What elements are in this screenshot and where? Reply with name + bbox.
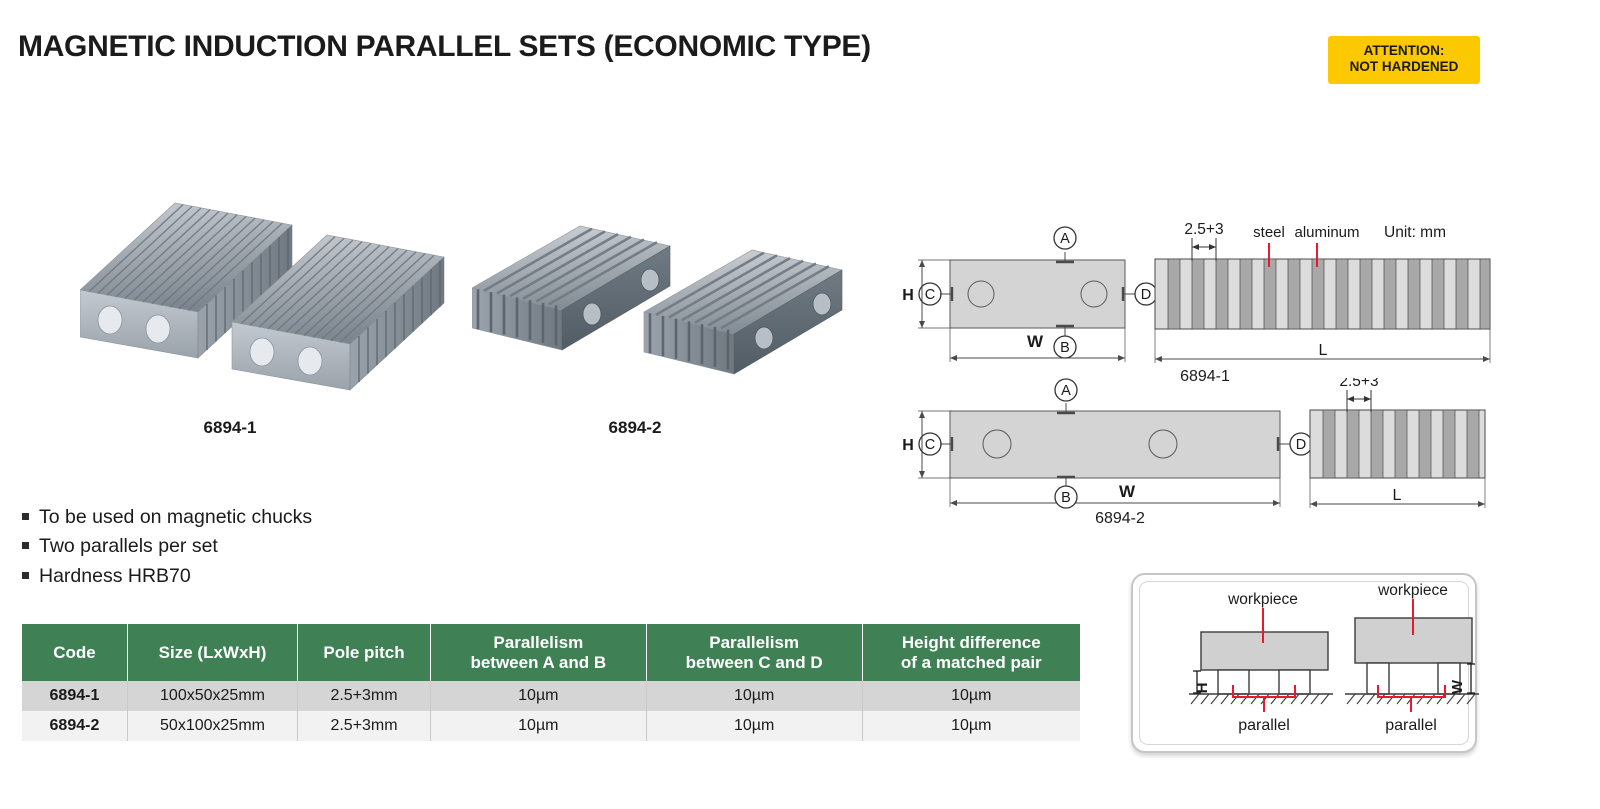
cell-parallelism-cd: 10µm	[646, 681, 862, 711]
mounting-hole	[298, 347, 322, 375]
workpiece-label: workpiece	[1227, 591, 1298, 608]
column-header-line-1: Height difference	[902, 633, 1041, 652]
list-item: To be used on magnetic chucks	[22, 504, 312, 530]
feature-list: To be used on magnetic chucks Two parall…	[22, 504, 312, 592]
label-b: B	[1060, 340, 1070, 356]
usage-left-scenario: workpiece parallel	[1189, 591, 1333, 734]
drawing-caption-6894-2: 6894-2	[1095, 510, 1145, 527]
label-l: L	[1319, 342, 1328, 359]
column-header-code: Code	[22, 624, 127, 681]
mounting-hole	[641, 269, 659, 291]
column-header-height-difference: Height difference of a matched pair	[862, 624, 1080, 681]
attention-badge: ATTENTION: NOT HARDENED	[1328, 36, 1480, 84]
cell-height-difference: 10µm	[862, 711, 1080, 741]
plan-view-6894-2	[918, 403, 1291, 507]
table-row: 6894-2 50x100x25mm 2.5+3mm 10µm 10µm 10µ…	[22, 711, 1080, 741]
mounting-hole	[983, 430, 1011, 458]
label-c: C	[925, 287, 935, 303]
list-item-label: Two parallels per set	[39, 533, 218, 559]
bullet-square-icon	[22, 572, 29, 579]
bullet-square-icon	[22, 542, 29, 549]
unit-label: Unit: mm	[1384, 224, 1446, 241]
mounting-hole	[813, 293, 831, 315]
steel-label: steel	[1253, 224, 1285, 241]
column-header-pole-pitch: Pole pitch	[298, 624, 431, 681]
column-header-parallelism-cd: Parallelism between C and D	[646, 624, 862, 681]
parallel-block	[472, 226, 670, 350]
label-b: B	[1061, 490, 1071, 506]
table-row: 6894-1 100x50x25mm 2.5+3mm 10µm 10µm 10µ…	[22, 681, 1080, 711]
side-view-6894-1: 2.5+3 steel aluminum L	[1155, 221, 1490, 363]
dim-label-w: W	[1449, 679, 1466, 694]
column-header-line-2: of a matched pair	[901, 653, 1042, 672]
usage-right-scenario: workpiece parallel	[1345, 582, 1479, 734]
mounting-hole	[250, 338, 274, 366]
column-header-line-2: between C and D	[686, 653, 823, 672]
cell-height-difference: 10µm	[862, 681, 1080, 711]
mounting-hole	[146, 315, 170, 343]
cell-size: 100x50x25mm	[127, 681, 297, 711]
attention-line-1: ATTENTION:	[1332, 43, 1476, 59]
label-h: H	[902, 287, 914, 304]
mounting-hole	[98, 306, 122, 334]
parallel-label: parallel	[1385, 717, 1437, 734]
workpiece-label: workpiece	[1377, 582, 1448, 599]
dim-label-h: H	[1194, 683, 1211, 694]
technical-drawing-6894-2: A B C D H W 6894-2	[880, 378, 1500, 528]
mounting-hole	[1081, 281, 1107, 307]
list-item-label: To be used on magnetic chucks	[39, 504, 312, 530]
parallel-block	[644, 250, 842, 374]
technical-drawing-6894-1: A B C D H W	[880, 215, 1500, 385]
label-d: D	[1296, 437, 1306, 453]
aluminum-label: aluminum	[1294, 224, 1359, 241]
mounting-hole	[583, 303, 601, 325]
usage-illustration-box: workpiece parallel	[1131, 573, 1477, 753]
column-header-line-2: between A and B	[470, 653, 606, 672]
column-header-line-1: Parallelism	[709, 633, 799, 652]
label-h: H	[902, 437, 914, 454]
product-caption-6894-2: 6894-2	[560, 418, 710, 438]
page-root: MAGNETIC INDUCTION PARALLEL SETS (ECONOM…	[0, 0, 1600, 809]
cell-parallelism-ab: 10µm	[430, 711, 646, 741]
pitch-label: 2.5+3	[1184, 221, 1223, 238]
product-caption-6894-1: 6894-1	[155, 418, 305, 438]
cell-pole-pitch: 2.5+3mm	[298, 681, 431, 711]
cell-size: 50x100x25mm	[127, 711, 297, 741]
attention-line-2: NOT HARDENED	[1332, 59, 1476, 75]
label-l: L	[1393, 487, 1402, 504]
bullet-square-icon	[22, 513, 29, 520]
cell-parallelism-ab: 10µm	[430, 681, 646, 711]
list-item: Two parallels per set	[22, 533, 312, 559]
label-a: A	[1060, 231, 1070, 247]
cell-code: 6894-2	[22, 711, 127, 741]
column-header-size: Size (LxWxH)	[127, 624, 297, 681]
page-title: MAGNETIC INDUCTION PARALLEL SETS (ECONOM…	[18, 30, 871, 64]
specification-table: Code Size (LxWxH) Pole pitch Parallelism…	[22, 624, 1080, 741]
label-d: D	[1141, 287, 1151, 303]
column-header-line-1: Parallelism	[493, 633, 583, 652]
label-w: W	[1027, 332, 1044, 351]
mounting-hole	[755, 327, 773, 349]
product-photo-6894-2	[472, 218, 872, 408]
label-a: A	[1061, 383, 1071, 399]
mounting-hole	[968, 281, 994, 307]
list-item: Hardness HRB70	[22, 563, 312, 589]
product-photo-6894-1	[80, 180, 480, 400]
parallel-label: parallel	[1238, 717, 1290, 734]
label-c: C	[925, 437, 935, 453]
cell-code: 6894-1	[22, 681, 127, 711]
side-view-6894-2: 2.5+3 L	[1310, 378, 1485, 508]
table-header-row: Code Size (LxWxH) Pole pitch Parallelism…	[22, 624, 1080, 681]
label-w: W	[1119, 482, 1136, 501]
list-item-label: Hardness HRB70	[39, 563, 191, 589]
cell-pole-pitch: 2.5+3mm	[298, 711, 431, 741]
mounting-hole	[1149, 430, 1177, 458]
column-header-parallelism-ab: Parallelism between A and B	[430, 624, 646, 681]
cell-parallelism-cd: 10µm	[646, 711, 862, 741]
pitch-label: 2.5+3	[1339, 378, 1378, 390]
